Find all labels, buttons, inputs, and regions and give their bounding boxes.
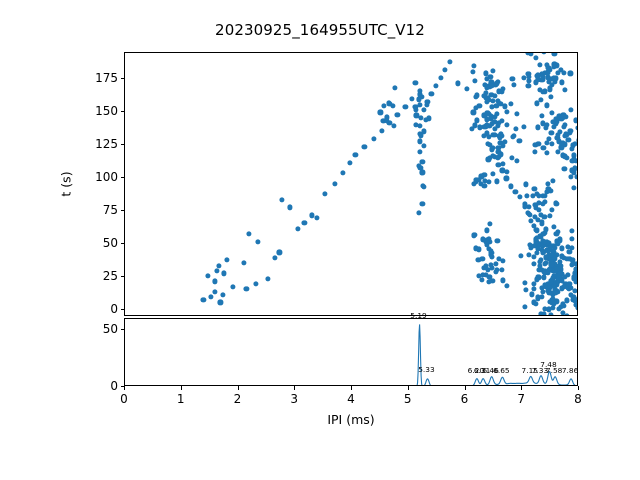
scatter-point xyxy=(514,158,519,163)
scatter-point xyxy=(429,91,434,96)
scatter-point xyxy=(217,263,222,268)
scatter-point xyxy=(495,179,500,184)
x-tick-label: 6 xyxy=(461,392,469,406)
figure-title: 20230925_164955UTC_V12 xyxy=(0,21,640,39)
scatter-point xyxy=(455,81,460,86)
scatter-point xyxy=(471,110,476,115)
scatter-point xyxy=(552,53,557,57)
scatter-point xyxy=(201,297,206,302)
scatter-point xyxy=(571,185,576,190)
scatter-point xyxy=(214,268,219,273)
x-tick-label: 8 xyxy=(574,392,582,406)
scatter-point xyxy=(489,104,494,109)
scatter-point xyxy=(570,237,575,242)
x-tick-label: 3 xyxy=(290,392,298,406)
x-tick-mark xyxy=(465,386,466,390)
scatter-point xyxy=(549,313,554,315)
y-axis-label: t (s) xyxy=(59,171,74,196)
scatter-point xyxy=(314,215,319,220)
scatter-point xyxy=(416,210,421,215)
scatter-point xyxy=(531,261,536,266)
scatter-point xyxy=(533,301,538,306)
hist-y-tick-mark xyxy=(121,386,125,387)
scatter-point xyxy=(546,181,551,186)
scatter-point xyxy=(564,298,569,303)
scatter-point xyxy=(560,311,565,316)
scatter-point xyxy=(569,245,574,250)
scatter-point xyxy=(438,75,443,80)
scatter-point xyxy=(499,89,504,94)
scatter-point xyxy=(420,202,425,207)
scatter-point xyxy=(471,63,476,68)
scatter-point xyxy=(495,104,500,109)
scatter-point xyxy=(470,69,475,74)
peak-annotation: 6.65 xyxy=(493,367,509,374)
scatter-point xyxy=(302,221,307,226)
y-tick-mark xyxy=(121,243,125,244)
scatter-point xyxy=(421,129,426,134)
scatter-point xyxy=(564,313,569,315)
scatter-point xyxy=(573,118,577,123)
scatter-point xyxy=(522,125,527,130)
y-tick-label: 175 xyxy=(78,71,118,85)
peak-annotation: 5.33 xyxy=(418,366,434,373)
scatter-point xyxy=(475,93,480,98)
scatter-point xyxy=(575,125,577,130)
scatter-point xyxy=(548,94,553,99)
scatter-point xyxy=(570,143,575,148)
x-tick-label: 1 xyxy=(177,392,185,406)
scatter-point xyxy=(495,238,500,243)
scatter-point xyxy=(554,201,559,206)
scatter-point xyxy=(550,178,555,183)
scatter-point xyxy=(490,171,495,176)
x-tick-label: 4 xyxy=(347,392,355,406)
scatter-point xyxy=(417,149,422,154)
y-tick-mark xyxy=(121,78,125,79)
scatter-point xyxy=(464,86,469,91)
scatter-point-layer xyxy=(125,53,577,315)
y-tick-label: 150 xyxy=(78,104,118,118)
scatter-point xyxy=(527,204,532,209)
hist-y-tick-label: 50 xyxy=(78,322,118,336)
scatter-point xyxy=(544,150,549,155)
scatter-point xyxy=(510,135,515,140)
scatter-point xyxy=(524,193,529,198)
scatter-point xyxy=(246,231,251,236)
scatter-point xyxy=(225,258,230,263)
x-tick-mark xyxy=(408,386,409,390)
scatter-point xyxy=(476,247,481,252)
scatter-point xyxy=(218,300,223,305)
scatter-point xyxy=(552,64,557,69)
scatter-point xyxy=(530,193,535,198)
scatter-point xyxy=(499,267,504,272)
scatter-point xyxy=(529,292,534,297)
scatter-point xyxy=(526,83,531,88)
peak-annotation: 5.19 xyxy=(410,312,426,319)
scatter-point xyxy=(522,280,527,285)
scatter-point xyxy=(534,101,539,106)
y-tick-mark xyxy=(121,144,125,145)
scatter-point xyxy=(332,181,337,186)
scatter-point xyxy=(479,277,484,282)
scatter-point xyxy=(569,228,574,233)
scatter-point xyxy=(572,166,577,171)
x-tick-mark xyxy=(181,386,182,390)
scatter-point xyxy=(550,207,555,212)
scatter-point xyxy=(347,160,352,165)
scatter-point xyxy=(471,234,476,239)
y-tick-label: 0 xyxy=(78,302,118,316)
scatter-point xyxy=(568,71,573,76)
scatter-point xyxy=(378,110,383,115)
scatter-point xyxy=(492,127,497,132)
scatter-point xyxy=(340,171,345,176)
scatter-point xyxy=(567,250,572,255)
scatter-point xyxy=(549,142,554,147)
y-tick-label: 125 xyxy=(78,137,118,151)
scatter-point xyxy=(573,272,577,277)
scatter-point xyxy=(212,279,217,284)
scatter-point xyxy=(573,289,577,294)
scatter-point xyxy=(497,135,502,140)
scatter-point xyxy=(496,155,501,160)
scatter-point xyxy=(322,192,327,197)
scatter-point xyxy=(561,70,566,75)
scatter-point xyxy=(487,221,492,226)
scatter-point xyxy=(541,231,546,236)
scatter-point xyxy=(548,214,553,219)
scatter-point xyxy=(545,103,550,108)
x-tick-mark xyxy=(578,386,579,390)
scatter-point xyxy=(482,183,487,188)
y-tick-label: 50 xyxy=(78,236,118,250)
y-tick-label: 75 xyxy=(78,203,118,217)
scatter-point xyxy=(551,124,556,129)
scatter-point xyxy=(494,81,499,86)
scatter-point xyxy=(499,118,504,123)
scatter-point xyxy=(535,125,540,130)
scatter-point xyxy=(494,111,499,116)
scatter-point xyxy=(500,278,505,283)
scatter-point xyxy=(523,288,528,293)
histogram-axes xyxy=(124,318,578,386)
scatter-point xyxy=(575,305,577,310)
scatter-point xyxy=(279,197,284,202)
scatter-point xyxy=(486,157,491,162)
scatter-point xyxy=(563,88,568,93)
scatter-point xyxy=(568,174,573,179)
scatter-point xyxy=(508,184,513,189)
scatter-point xyxy=(549,110,554,115)
scatter-point xyxy=(472,78,477,83)
scatter-point xyxy=(517,139,522,144)
scatter-point xyxy=(242,260,247,265)
scatter-point xyxy=(517,194,522,199)
scatter-point xyxy=(244,287,249,292)
scatter-point xyxy=(534,277,539,282)
scatter-point xyxy=(505,284,510,289)
scatter-point xyxy=(522,304,527,309)
scatter-plot-axes xyxy=(124,52,578,316)
y-tick-label: 100 xyxy=(78,170,118,184)
scatter-point xyxy=(510,77,515,82)
scatter-point xyxy=(534,235,539,240)
scatter-point xyxy=(513,189,518,194)
scatter-point xyxy=(500,259,505,264)
scatter-point xyxy=(539,311,544,315)
scatter-point xyxy=(265,276,270,281)
scatter-point xyxy=(537,63,542,68)
scatter-point xyxy=(433,83,438,88)
scatter-point xyxy=(421,107,426,112)
scatter-point xyxy=(447,60,452,65)
x-tick-mark xyxy=(124,386,125,390)
scatter-point xyxy=(423,117,428,122)
scatter-point xyxy=(494,261,499,266)
scatter-point xyxy=(545,189,550,194)
y-tick-label: 25 xyxy=(78,269,118,283)
scatter-point xyxy=(489,254,494,259)
x-tick-label: 2 xyxy=(234,392,242,406)
peak-annotation: 7.58 xyxy=(546,367,562,374)
scatter-point xyxy=(559,80,564,85)
scatter-point xyxy=(518,253,523,258)
y-tick-mark xyxy=(121,210,125,211)
scatter-point xyxy=(533,55,538,60)
scatter-point xyxy=(542,53,547,55)
scatter-point xyxy=(539,114,544,119)
scatter-point xyxy=(421,184,426,189)
scatter-point xyxy=(209,295,214,300)
x-tick-label: 7 xyxy=(517,392,525,406)
scatter-point xyxy=(379,128,384,133)
scatter-point xyxy=(205,273,210,278)
scatter-point xyxy=(391,123,396,128)
scatter-point xyxy=(277,250,282,255)
x-tick-mark xyxy=(294,386,295,390)
scatter-point xyxy=(576,138,577,143)
scatter-point xyxy=(532,149,537,154)
scatter-point xyxy=(543,125,548,130)
scatter-point xyxy=(272,255,277,260)
x-axis-label: IPI (ms) xyxy=(327,412,374,427)
scatter-point xyxy=(395,112,400,117)
y-tick-mark xyxy=(121,276,125,277)
histogram-trace xyxy=(125,319,577,385)
scatter-point xyxy=(410,97,415,102)
scatter-point xyxy=(221,271,226,276)
scatter-point xyxy=(540,294,545,299)
scatter-point xyxy=(469,126,474,131)
scatter-point xyxy=(548,87,553,92)
peak-annotation: 7.86 xyxy=(562,367,578,374)
scatter-point xyxy=(500,161,505,166)
scatter-point xyxy=(568,107,573,112)
scatter-point xyxy=(403,105,408,110)
scatter-point xyxy=(353,152,358,157)
x-tick-label: 0 xyxy=(120,392,128,406)
scatter-point xyxy=(536,141,541,146)
scatter-point xyxy=(513,126,518,131)
scatter-point xyxy=(541,275,546,280)
scatter-point xyxy=(490,69,495,74)
hist-y-tick-mark xyxy=(121,329,125,330)
matplotlib-figure: 20230925_164955UTC_V12 02550751001251501… xyxy=(0,0,640,480)
scatter-point xyxy=(560,246,565,251)
scatter-point xyxy=(362,144,367,149)
y-tick-mark xyxy=(121,177,125,178)
hist-y-tick-label: 0 xyxy=(78,379,118,393)
scatter-point xyxy=(563,274,568,279)
scatter-point xyxy=(562,166,567,171)
scatter-point xyxy=(554,291,559,296)
scatter-point xyxy=(552,224,557,229)
x-tick-label: 5 xyxy=(404,392,412,406)
scatter-point xyxy=(482,173,487,178)
scatter-point xyxy=(392,85,397,90)
scatter-point xyxy=(253,281,258,286)
scatter-point xyxy=(212,289,217,294)
y-tick-mark xyxy=(121,309,125,310)
scatter-point xyxy=(561,124,566,129)
scatter-point xyxy=(287,205,292,210)
scatter-point xyxy=(504,109,509,114)
scatter-point xyxy=(424,102,429,107)
scatter-point xyxy=(502,140,507,145)
scatter-point xyxy=(484,228,489,233)
scatter-point xyxy=(504,169,509,174)
scatter-point xyxy=(531,254,536,259)
x-tick-mark xyxy=(521,386,522,390)
scatter-point xyxy=(546,70,551,75)
scatter-point xyxy=(255,239,260,244)
scatter-point xyxy=(504,176,509,181)
scatter-point xyxy=(230,284,235,289)
scatter-point xyxy=(515,111,520,116)
scatter-point xyxy=(371,136,376,141)
scatter-point xyxy=(295,226,300,231)
scatter-point xyxy=(549,130,554,135)
scatter-point xyxy=(419,170,424,175)
scatter-point xyxy=(421,143,426,148)
scatter-point xyxy=(574,175,577,180)
scatter-point xyxy=(511,82,516,87)
x-tick-mark xyxy=(351,386,352,390)
x-tick-mark xyxy=(238,386,239,390)
y-tick-mark xyxy=(121,111,125,112)
scatter-point xyxy=(490,121,495,126)
scatter-point xyxy=(508,101,513,106)
scatter-point xyxy=(487,279,492,284)
scatter-point xyxy=(486,179,491,184)
scatter-point xyxy=(555,70,560,75)
scatter-point xyxy=(523,182,528,187)
scatter-point xyxy=(473,106,478,111)
scatter-point xyxy=(563,114,568,119)
scatter-point xyxy=(220,292,225,297)
scatter-point xyxy=(413,80,418,85)
scatter-point xyxy=(539,221,544,226)
scatter-point xyxy=(442,68,447,73)
scatter-point xyxy=(534,250,539,255)
scatter-point xyxy=(504,122,509,127)
